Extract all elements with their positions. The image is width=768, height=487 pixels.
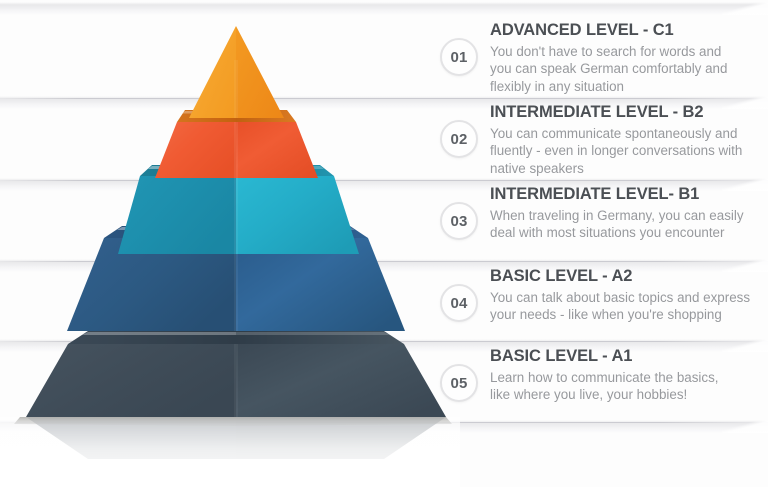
level-text-block: BASIC LEVEL - A2 You can talk about basi…	[478, 268, 768, 324]
level-description: When traveling in Germany, you can easil…	[490, 207, 768, 243]
level-title: BASIC LEVEL - A1	[490, 348, 768, 365]
level-number-badge: 03	[440, 202, 478, 240]
level-item-b1[interactable]: 03 INTERMEDIATE LEVEL- B1 When traveling…	[440, 186, 768, 242]
level-text-block: ADVANCED LEVEL - C1 You don't have to se…	[478, 22, 768, 96]
level-title: ADVANCED LEVEL - C1	[490, 22, 768, 39]
level-description: Learn how to communicate the basics, lik…	[490, 369, 768, 405]
level-item-a1[interactable]: 05 BASIC LEVEL - A1 Learn how to communi…	[440, 348, 768, 404]
level-title: INTERMEDIATE LEVEL - B2	[490, 104, 768, 121]
level-number-badge: 01	[440, 38, 478, 76]
level-description: You can communicate spontaneously and fl…	[490, 125, 768, 178]
levels-list: 01 ADVANCED LEVEL - C1 You don't have to…	[440, 0, 768, 487]
pyramid-graphic	[0, 0, 460, 487]
level-title: BASIC LEVEL - A2	[490, 268, 768, 285]
level-item-b2[interactable]: 02 INTERMEDIATE LEVEL - B2 You can commu…	[440, 104, 768, 178]
infographic-canvas: 01 ADVANCED LEVEL - C1 You don't have to…	[0, 0, 768, 487]
level-text-block: INTERMEDIATE LEVEL- B1 When traveling in…	[478, 186, 768, 242]
level-description: You can talk about basic topics and expr…	[490, 289, 768, 325]
level-number-badge: 04	[440, 284, 478, 322]
pyramid-tier-c1	[189, 26, 284, 118]
level-number-badge: 02	[440, 120, 478, 158]
level-number-badge: 05	[440, 364, 478, 402]
pyramid-tier-a1	[26, 331, 446, 417]
level-text-block: INTERMEDIATE LEVEL - B2 You can communic…	[478, 104, 768, 178]
level-title: INTERMEDIATE LEVEL- B1	[490, 186, 768, 203]
level-text-block: BASIC LEVEL - A1 Learn how to communicat…	[478, 348, 768, 404]
pyramid-tier-b2	[155, 110, 318, 178]
level-description: You don't have to search for words and y…	[490, 43, 768, 96]
pyramid-svg	[0, 0, 460, 487]
level-item-c1[interactable]: 01 ADVANCED LEVEL - C1 You don't have to…	[440, 22, 768, 96]
level-item-a2[interactable]: 04 BASIC LEVEL - A2 You can talk about b…	[440, 268, 768, 324]
pyramid-tier-b1	[118, 165, 359, 254]
